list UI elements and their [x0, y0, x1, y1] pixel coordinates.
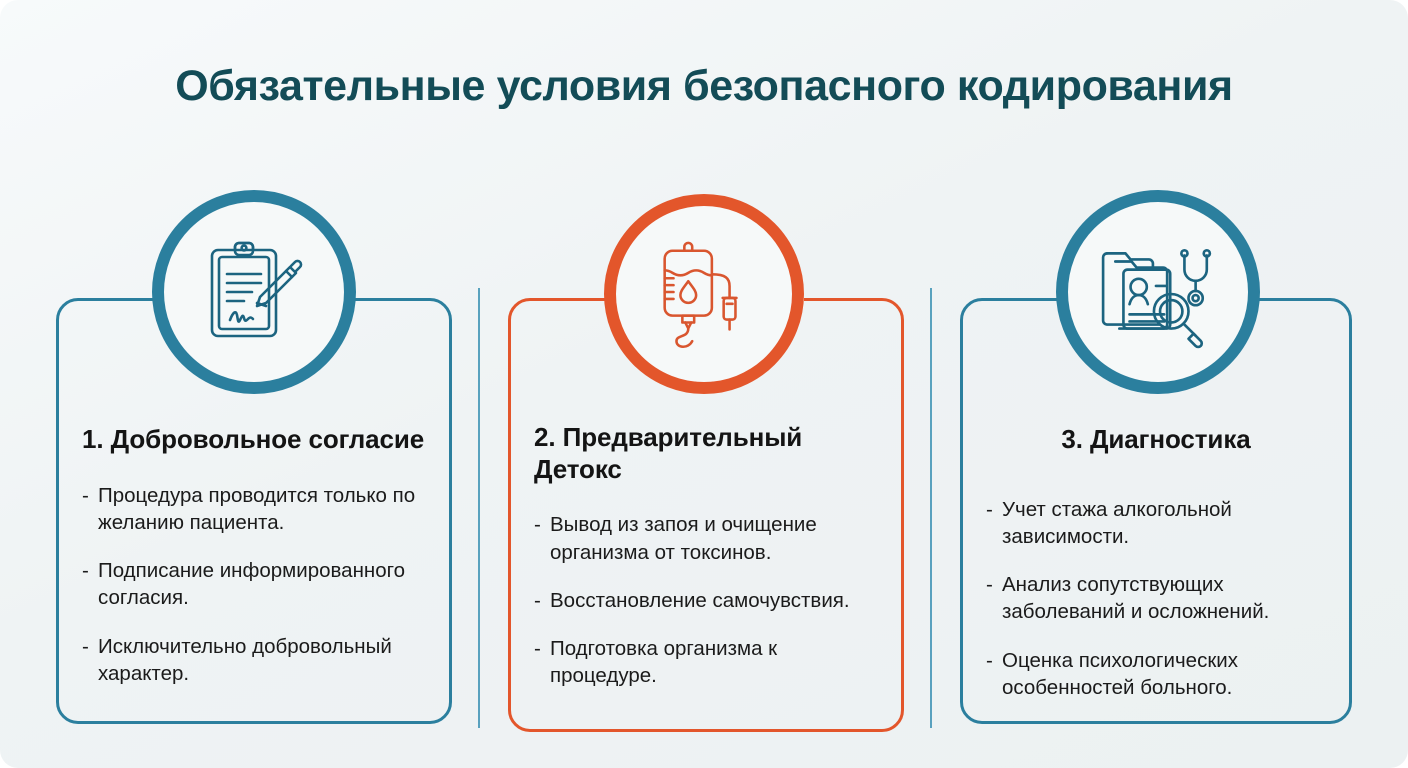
list-item: Вывод из запоя и очищение организма от т…	[534, 511, 878, 566]
list-item: Исключительно добровольный характер.	[82, 633, 426, 688]
icon-circle-preliminary-detox	[604, 194, 804, 394]
column-divider-1	[478, 288, 480, 728]
column-divider-2	[930, 288, 932, 728]
card-title: 1. Добровольное согласие	[82, 424, 426, 456]
clipboard-signature-pen-icon	[194, 232, 314, 352]
card-bullet-list: Учет стажа алкогольной зависимости. Анал…	[986, 496, 1326, 702]
iv-drip-bag-icon	[645, 235, 763, 353]
icon-circle-voluntary-consent	[152, 190, 356, 394]
list-item: Процедура проводится только по желанию п…	[82, 482, 426, 537]
list-item: Учет стажа алкогольной зависимости.	[986, 496, 1326, 551]
list-item: Анализ сопутствующих заболеваний и ослож…	[986, 571, 1326, 626]
card-title: 3. Диагностика	[986, 424, 1326, 456]
card-bullet-list: Вывод из запоя и очищение организма от т…	[534, 511, 878, 689]
page-title: Обязательные условия безопасного кодиров…	[0, 62, 1408, 111]
patient-file-magnifier-stethoscope-icon	[1097, 231, 1219, 353]
list-item: Оценка психологических особенностей боль…	[986, 647, 1326, 702]
card-title: 2. Предварительный Детокс	[534, 422, 878, 485]
list-item: Подписание информированного согласия.	[82, 557, 426, 612]
list-item: Подготовка организма к процедуре.	[534, 635, 878, 690]
card-bullet-list: Процедура проводится только по желанию п…	[82, 482, 426, 688]
list-item: Восстановление самочувствия.	[534, 587, 878, 614]
infographic-root: Обязательные условия безопасного кодиров…	[0, 0, 1408, 768]
icon-circle-diagnostics	[1056, 190, 1260, 394]
